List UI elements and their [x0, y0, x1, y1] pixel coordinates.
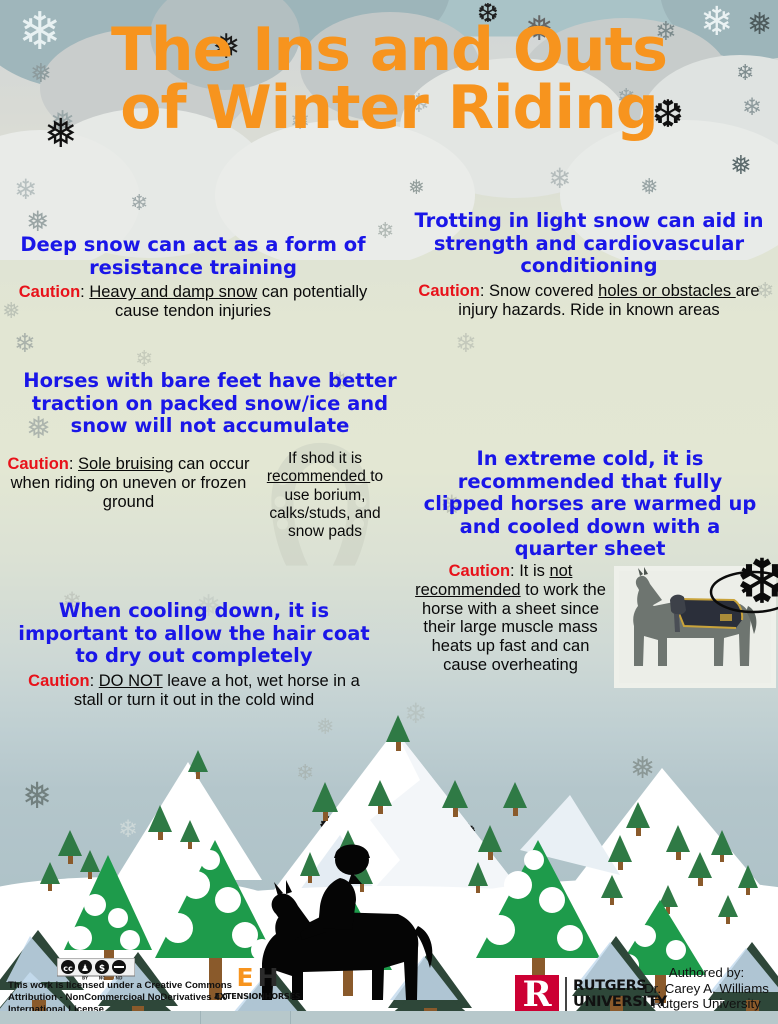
snowflake-icon: ❄ [14, 176, 37, 204]
snowflake-icon: ❄ [135, 348, 153, 370]
author-credit: Authored by: Dr. Carey A. Williams Rutge… [635, 965, 778, 1012]
eh-letter-e: E [236, 963, 253, 992]
caution-label: Caution [418, 282, 479, 300]
author-affiliation: Rutgers University [635, 996, 778, 1012]
fact-caution: Caution: It is not recommended to work t… [408, 562, 613, 675]
snowflake-icon: ❅ [26, 208, 49, 236]
snowflake-icon: ❄ [376, 220, 394, 242]
eh-monogram: E H [210, 965, 305, 990]
caution-underlined: Heavy and damp snow [89, 283, 257, 301]
fact-caution: Caution: DO NOT leave a hot, wet horse i… [14, 672, 374, 710]
snowflake-icon: ❄ [14, 330, 36, 356]
fact-caution-extreme-cold: Caution: It is not recommended to work t… [408, 562, 613, 675]
caution-label: Caution [19, 283, 80, 301]
title-line-2: of Winter Riding [0, 80, 778, 138]
poster-footer: cc ♟ $ BY NC ND This work is licensed un… [0, 905, 778, 1024]
fact-caution-bare-feet: Caution: Sole bruising can occur when ri… [6, 455, 251, 511]
caution-underlined: Sole bruising [78, 455, 173, 473]
fact-heading: Deep snow can act as a form of resistanc… [14, 234, 372, 279]
fact-block-trotting: Trotting in light snow can aid in streng… [408, 210, 770, 319]
snowflake-icon: ❅ [408, 178, 425, 198]
quarter-sheet-photo: ❆ [614, 566, 776, 688]
caution-label: Caution [28, 672, 89, 690]
poster-title: The Ins and Outs of Winter Riding [0, 22, 778, 137]
caution-underlined: holes or obstacles [598, 282, 736, 300]
authored-by-label: Authored by: [635, 965, 778, 981]
creative-commons-badge-icon: cc ♟ $ BY NC ND [57, 958, 135, 980]
snowflake-icon: ❄ [548, 165, 571, 193]
logo-divider [565, 977, 567, 1013]
fact-caution: Caution: Snow covered holes or obstacles… [408, 282, 770, 320]
snowflake-icon: ❅ [730, 152, 752, 178]
shoe-note-pre: If shod it is [288, 450, 362, 467]
fact-block-cooling-down: When cooling down, it is important to al… [14, 600, 374, 709]
shoe-note-underlined: recommended [267, 468, 370, 485]
poster-canvas: ❄ ❅ ❅ ❄ ❆ ❆ ❄ ❅ ❅ ❄ ❅ ❄ ❆ ❄ ❄ ❅ ❅ ❄ ❄ ❅ … [0, 0, 778, 1024]
caution-pre: : [90, 672, 99, 690]
caution-pre: : It is [510, 562, 549, 580]
fact-caution: Caution: Sole bruising can occur when ri… [6, 455, 251, 511]
caution-pre: : [69, 455, 78, 473]
bottom-strip [0, 1011, 778, 1024]
mountain-left [115, 762, 262, 880]
svg-text:♟: ♟ [81, 964, 89, 974]
rutgers-shield-icon: R [515, 975, 559, 1015]
snowflake-icon: ❄ [130, 192, 148, 214]
strip-seam [290, 1011, 291, 1024]
fact-block-bare-feet: Horses with bare feet have better tracti… [8, 370, 412, 438]
caution-pre: : Snow covered [480, 282, 598, 300]
svg-text:cc: cc [63, 964, 73, 973]
snowflake-icon: ❅ [640, 176, 658, 198]
caution-label: Caution [449, 562, 510, 580]
author-name: Dr. Carey A. Williams [635, 981, 778, 997]
fact-block-deep-snow: Deep snow can act as a form of resistanc… [14, 234, 372, 321]
shod-recommendation-note: If shod it is recommended to use borium,… [255, 450, 395, 575]
fact-caution: Caution: Heavy and damp snow can potenti… [14, 283, 372, 321]
caution-pre: : [80, 283, 89, 301]
eh-wordmark: EXTENSIONHORSES [210, 991, 305, 1001]
caution-label: Caution [7, 455, 68, 473]
fact-block-extreme-cold: In extreme cold, it is recommended that … [404, 448, 776, 561]
snowflake-ring-icon [708, 568, 778, 616]
snowflake-icon: ❄ [455, 330, 477, 356]
fact-heading: In extreme cold, it is recommended that … [404, 448, 776, 561]
svg-text:$: $ [99, 964, 105, 974]
caution-underlined: DO NOT [99, 672, 163, 690]
extension-horses-logo: E H EXTENSIONHORSES [210, 965, 305, 1010]
strip-seam [200, 1011, 201, 1024]
eh-letter-h: H [258, 963, 279, 992]
fact-heading: Trotting in light snow can aid in streng… [408, 210, 770, 278]
fact-heading: Horses with bare feet have better tracti… [8, 370, 412, 438]
fact-heading: When cooling down, it is important to al… [14, 600, 374, 668]
